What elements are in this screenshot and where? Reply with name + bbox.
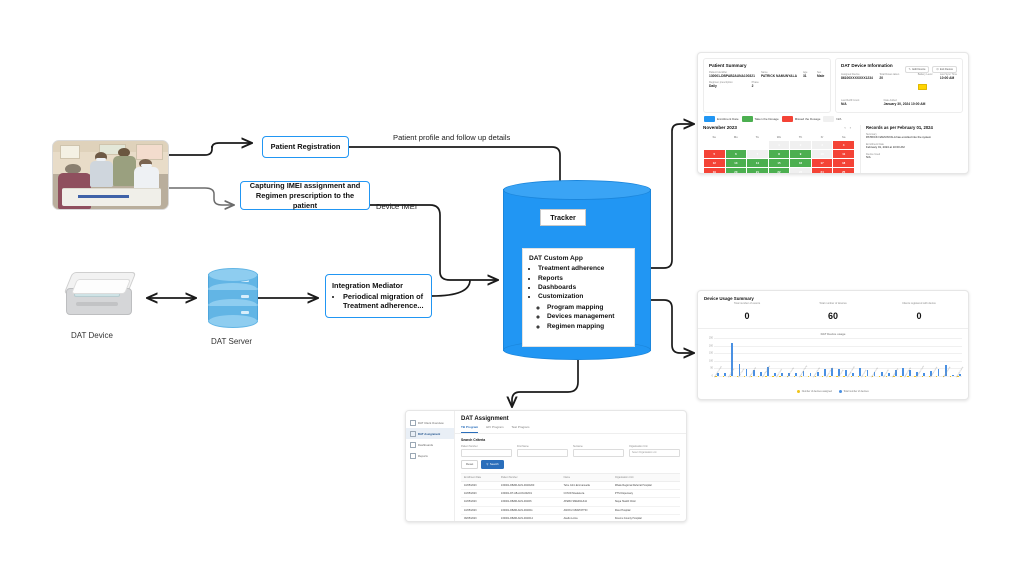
custom-app-item: Treatment adherence — [538, 264, 628, 273]
legend-swatch — [823, 116, 834, 122]
table-cell: Siaya Health Clinic — [612, 498, 680, 506]
table-cell: 130001-DT-AB-AUN-0020/1 — [498, 489, 561, 497]
chart-y-tick: 150 — [709, 352, 713, 355]
assignment-icon — [410, 431, 416, 437]
photo-person-worker-2 — [113, 148, 136, 186]
calendar-day[interactable]: 2 — [790, 141, 812, 150]
tab-tb-program[interactable]: TB Program — [461, 425, 478, 433]
photo-poster-3 — [136, 144, 163, 160]
calendar-week: 567891011 — [704, 150, 855, 159]
tab-test-program[interactable]: Test Program — [512, 425, 530, 433]
column-organisation-unit[interactable]: Organisation Unit — [612, 473, 680, 481]
calendar-week: 12131415161718 — [704, 159, 855, 168]
field-patient-age: Age 31 — [803, 71, 811, 78]
calendar-day[interactable]: 14 — [747, 159, 769, 168]
field-patient-sex: Sex Male — [817, 71, 825, 78]
calendar-header: November 2023 ‹› — [703, 125, 855, 130]
calendar-day[interactable]: 20 — [725, 168, 747, 174]
tab-hiv-program[interactable]: HIV Program — [486, 425, 503, 433]
table-cell: 10/05/2023 — [461, 481, 498, 489]
calendar-body: 1234567891011121314151617181920212223242… — [704, 141, 855, 174]
integration-mediator-box[interactable]: Integration Mediator Periodical migratio… — [325, 274, 432, 318]
chart-legend-item-2: Total number of devices — [839, 390, 869, 393]
field-total-doses: Total Doses taken 20 — [879, 73, 911, 96]
calendar-day[interactable]: 23 — [790, 168, 812, 174]
dat-device-icon — [66, 272, 136, 316]
results-body: 10/05/2023130001-DBAB-AUN-0020/200Tebu J… — [461, 481, 680, 522]
table-cell: COVID Msekeleza — [561, 489, 612, 497]
field-organisation-unit: Organisation Unit Select Organisation un… — [629, 445, 680, 457]
table-cell: 09/05/2023 — [461, 515, 498, 523]
field-date-added: Date Added January 30, 2024 10:00 AM — [884, 99, 957, 106]
results-table: Enrollment Date Patient Number Name Orga… — [461, 473, 680, 523]
photo-body — [90, 161, 113, 187]
assignment-sidebar: DAT Client Overview DAT Assignment Dashb… — [406, 411, 455, 521]
patient-field-row-2: Regimen prescription Daily Phase 2 — [709, 81, 825, 88]
table-row[interactable]: 10/05/2023130001-DBAB-AUN-0020/11ANOKU U… — [461, 506, 680, 514]
photo-desk-banner — [78, 195, 129, 198]
calendar-weekday: We — [768, 133, 790, 141]
battery-icon — [918, 84, 927, 90]
table-cell: 10/05/2023 — [461, 506, 498, 514]
calendar-weekday: Fr — [811, 133, 833, 141]
table-cell: 130001-DBAB-AUN-0020/200 — [498, 481, 561, 489]
field-patient-name: Name PATRICK NAMUNYALA — [761, 71, 797, 78]
calendar-day[interactable]: 15 — [768, 159, 790, 168]
legend-missed: Missed the Dosage — [782, 116, 821, 122]
calendar-legend: Enrollment Date Taken the Dosage Missed … — [698, 116, 968, 125]
server-disc-top — [208, 268, 258, 282]
dat-custom-app-list: Treatment adherence Reports Dashboards C… — [529, 264, 628, 331]
search-fields-row: Patient Number First Name Surname Organi… — [461, 445, 680, 457]
custom-app-item: Dashboards — [538, 283, 628, 292]
sidebar-item-dat-assignment[interactable]: DAT Assignment — [406, 428, 454, 439]
chart-y-tick: 100 — [709, 359, 713, 362]
table-cell: Mbale Regional Referral Hospital — [612, 481, 680, 489]
search-criteria-section: Search Criteria Patient Number First Nam… — [455, 434, 686, 523]
calendar-weekday-row: Su Mo Tu We Th Fr Sa — [704, 133, 855, 141]
device-field-row-2: Last Refill Count N/A Date Added January… — [841, 99, 957, 106]
field-first-name: First Name — [517, 445, 568, 457]
record-enrollment-date: Enrollment Date February 01, 2024 at 10:… — [866, 143, 963, 150]
patient-field-row-1: Patient Identifier 130001-DBPAB2AUNA1003… — [709, 71, 825, 78]
calendar-weekday: Mo — [725, 133, 747, 141]
photo-body — [113, 156, 136, 186]
table-row[interactable]: 09/05/2023130001-DBAB-AUN-0020/14Akello … — [461, 515, 680, 523]
calendar-day[interactable]: 17 — [811, 159, 833, 168]
dat-server-caption: DAT Server — [211, 337, 252, 346]
device-lid-inner — [71, 279, 131, 294]
calendar-day — [747, 141, 769, 150]
device-action-buttons: ✎ Edit Device ⏻ Exit Device — [905, 66, 957, 73]
column-patient-number[interactable]: Patient Number — [498, 473, 561, 481]
calendar-day[interactable]: 8 — [768, 150, 790, 159]
chart-legend: Number of devices assigned Total number … — [698, 390, 968, 393]
record-device-used: Device Used N/A — [866, 153, 963, 160]
calendar-day[interactable]: 19 — [704, 168, 726, 174]
calendar-day — [704, 141, 726, 150]
legend-swatch — [704, 116, 715, 122]
table-row[interactable]: 10/05/2023130001-DBAB-AUN-0020/6ATEBU SM… — [461, 498, 680, 506]
organisation-unit-select[interactable]: Select Organisation unit — [629, 449, 680, 457]
custom-app-item-label: Customization — [538, 293, 583, 300]
table-cell: 130001-DBAB-AUN-0020/14 — [498, 515, 561, 523]
patient-summary-header: Patient Summary Patient Identifier 13000… — [698, 53, 968, 116]
calendar-day[interactable]: 16 — [790, 159, 812, 168]
field-patient-identifier: Patient Identifier 130001-DBPAB2AUNA1003… — [709, 71, 755, 78]
sidebar-item-dat-client-overview[interactable]: DAT Client Overview — [406, 417, 454, 428]
record-summary: Summary PATRICK NAMUNYALA has enrolled i… — [866, 133, 963, 140]
calendar-day[interactable]: 5 — [704, 150, 726, 159]
calendar-weekday: Su — [704, 133, 726, 141]
calendar-day[interactable]: 1 — [768, 141, 790, 150]
surname-input[interactable] — [573, 449, 624, 457]
legend-dot — [839, 390, 842, 393]
patient-number-input[interactable] — [461, 449, 512, 457]
chart-y-tick: 0 — [712, 375, 713, 378]
overview-icon — [410, 420, 416, 426]
calendar-day[interactable]: 11 — [833, 150, 855, 159]
field-battery-level: Battery Level — [918, 73, 934, 96]
calendar-day[interactable]: 12 — [704, 159, 726, 168]
device-usage-panel[interactable]: Device Usage Summary Total number of eve… — [697, 290, 969, 400]
calendar-day[interactable]: 25 — [833, 168, 855, 174]
table-cell: 130001-DBAB-AUN-0020/6 — [498, 498, 561, 506]
calendar-day — [725, 141, 747, 150]
assignment-tabs: TB Program HIV Program Test Program — [455, 425, 686, 434]
table-cell: PTS Dispensary — [612, 489, 680, 497]
calendar-day[interactable]: 9 — [790, 150, 812, 159]
patient-registration-box[interactable]: Patient Registration — [262, 136, 349, 158]
calendar-day[interactable]: 18 — [833, 159, 855, 168]
calendar-weekday: Sa — [833, 133, 855, 141]
chart-y-tick: 250 — [709, 337, 713, 340]
field-last-sync: Last Sync Time 10:00 AM — [940, 73, 957, 96]
patient-summary-card: Patient Summary Patient Identifier 13000… — [703, 58, 831, 113]
search-button[interactable]: ⚲ Search — [481, 460, 503, 469]
calendar-day[interactable]: 13 — [725, 159, 747, 168]
field-regimen-prescription: Regimen prescription Daily — [709, 81, 746, 88]
photo-person-worker-3 — [134, 159, 159, 192]
integration-mediator-title: Integration Mediator — [332, 281, 425, 291]
records-title: Records as per February 01, 2024 — [866, 125, 963, 130]
clinic-photo — [52, 140, 169, 210]
first-name-input[interactable] — [517, 449, 568, 457]
server-disc-3 — [208, 314, 258, 328]
search-buttons: Reset ⚲ Search — [461, 460, 680, 469]
chart-title: DAT Device usage — [698, 328, 968, 336]
assignment-main: DAT Assignment TB Program HIV Program Te… — [455, 411, 686, 521]
patient-summary-panel[interactable]: Patient Summary Patient Identifier 13000… — [697, 52, 969, 174]
photo-poster-1 — [60, 145, 80, 159]
calendar-day[interactable]: 21 — [747, 168, 769, 174]
search-icon: ⚲ — [486, 462, 488, 466]
field-patient-number: Patient Number — [461, 445, 512, 457]
field-assigned-device: Assigned Device 86100XXXXXXX1234 — [841, 73, 873, 96]
calendar-week: 19202122232425 — [704, 168, 855, 174]
results-header: Enrollment Date Patient Number Name Orga… — [461, 473, 680, 481]
calendar-grid: Su Mo Tu We Th Fr Sa 1234567891011121314… — [703, 132, 855, 174]
reports-icon — [410, 453, 416, 459]
table-cell: 130001-DBAB-AUN-0020/11 — [498, 506, 561, 514]
exit-icon: ⏻ — [936, 68, 938, 71]
tracker-label: Tracker — [550, 213, 576, 222]
calendar-day[interactable]: 24 — [811, 168, 833, 174]
device-usage-chart: 050100150200250 Bungoma CountyBusia Coun… — [704, 338, 962, 386]
capturing-imei-label: Capturing IMEI assignment and Regimen pr… — [247, 181, 363, 211]
legend-na: N/A — [823, 116, 841, 122]
photo-person-worker-1 — [90, 152, 113, 187]
device-usage-title: Device Usage Summary — [698, 291, 968, 301]
table-cell: ATEBU SMERGUIJA — [561, 498, 612, 506]
dat-custom-app-title: DAT Custom App — [529, 255, 583, 262]
table-cell: Tebu John Emmanuella — [561, 481, 612, 489]
sidebar-item-reports[interactable]: Reports — [406, 450, 454, 461]
table-cell: Akello Lorna — [561, 515, 612, 523]
cylinder-top — [503, 180, 651, 200]
dashboard-icon — [410, 442, 416, 448]
calendar-month-label: November 2023 — [703, 125, 737, 130]
kpi-row: Total number of events 0 Total number of… — [698, 301, 968, 328]
legend-enrollment: Enrollment Date — [704, 116, 739, 122]
integration-mediator-bullet: Periodical migration of Treatment adhere… — [343, 292, 425, 312]
device-slot — [76, 302, 118, 306]
table-cell: 10/05/2023 — [461, 489, 498, 497]
custom-app-sublist: Program mapping Devices management Regim… — [538, 303, 628, 331]
custom-app-subitem: Devices management — [547, 312, 628, 321]
field-surname: Surname — [573, 445, 624, 457]
table-row[interactable]: 10/05/2023130001-DBAB-AUN-0020/200Tebu J… — [461, 481, 680, 489]
calendar-day[interactable]: 22 — [768, 168, 790, 174]
edit-device-button[interactable]: ✎ Edit Device — [905, 66, 930, 73]
table-row[interactable]: 10/05/2023130001-DT-AB-AUN-0020/1COVID M… — [461, 489, 680, 497]
chart-y-axis: 050100150200250 — [704, 338, 714, 376]
legend-dot — [797, 390, 800, 393]
chart-y-tick: 50 — [710, 367, 713, 370]
kpi-clients-registered: Clients registered with device 0 — [876, 302, 962, 324]
label-patient-profile: Patient profile and follow up details — [393, 133, 510, 142]
dat-device-info-card: DAT Device Information ✎ Edit Device ⏻ E… — [835, 58, 963, 113]
column-name[interactable]: Name — [561, 473, 612, 481]
patient-summary-title: Patient Summary — [709, 63, 825, 68]
chart-x-labels: Bungoma CountyBusia CountyEmbu CountyGar… — [714, 376, 962, 386]
calendar-day[interactable]: 3 — [811, 141, 833, 150]
dat-custom-app-box[interactable]: DAT Custom App Treatment adherence Repor… — [522, 248, 635, 347]
field-last-refill: Last Refill Count N/A — [841, 99, 878, 106]
tracker-box[interactable]: Tracker — [540, 209, 586, 226]
table-cell: ANOKU UBAHOTHO — [561, 506, 612, 514]
kpi-total-devices: Total number of devices 60 — [790, 302, 876, 324]
chart-legend-item-1: Number of devices assigned — [797, 390, 832, 393]
column-enrollment-date[interactable]: Enrollment Date — [461, 473, 498, 481]
dat-device-caption: DAT Device — [71, 331, 113, 340]
assignment-title: DAT Assignment — [455, 411, 686, 425]
pencil-icon: ✎ — [909, 68, 911, 71]
table-cell: Kisumu County Hospital — [612, 515, 680, 523]
calendar-weekday: Th — [790, 133, 812, 141]
results-header-row: Enrollment Date Patient Number Name Orga… — [461, 473, 680, 481]
device-field-row-1: Assigned Device 86100XXXXXXX1234 Total D… — [841, 73, 957, 96]
custom-app-subitem: Program mapping — [547, 303, 628, 312]
custom-app-item: Reports — [538, 274, 628, 283]
field-phase: Phase 2 — [752, 81, 825, 88]
calendar-weekday: Tu — [747, 133, 769, 141]
calendar[interactable]: November 2023 ‹› Su Mo Tu We Th Fr Sa 12… — [703, 125, 855, 174]
records-section: Records as per February 01, 2024 Summary… — [860, 125, 963, 174]
calendar-day[interactable]: 7 — [747, 150, 769, 159]
dat-assignment-panel[interactable]: DAT Client Overview DAT Assignment Dashb… — [405, 410, 687, 522]
chart-y-tick: 200 — [709, 344, 713, 347]
calendar-nav[interactable]: ‹› — [844, 125, 855, 130]
calendar-day[interactable]: 6 — [725, 150, 747, 159]
custom-app-subitem: Regimen mapping — [547, 322, 628, 331]
calendar-day[interactable]: 10 — [811, 150, 833, 159]
custom-app-item: Customization Program mapping Devices ma… — [538, 292, 628, 330]
capturing-imei-box[interactable]: Capturing IMEI assignment and Regimen pr… — [240, 181, 370, 210]
legend-swatch — [742, 116, 753, 122]
sidebar-item-dashboards[interactable]: Dashboards — [406, 439, 454, 450]
legend-taken: Taken the Dosage — [742, 116, 779, 122]
reset-button[interactable]: Reset — [461, 460, 478, 469]
calendar-section: November 2023 ‹› Su Mo Tu We Th Fr Sa 12… — [698, 125, 968, 174]
table-cell: 10/05/2023 — [461, 498, 498, 506]
calendar-week: 1234 — [704, 141, 855, 150]
label-device-imei: Device IMEI — [376, 202, 417, 211]
exit-device-button[interactable]: ⏻ Exit Device — [932, 66, 957, 73]
patient-registration-label: Patient Registration — [271, 142, 341, 152]
legend-swatch — [782, 116, 793, 122]
dat-server-icon — [208, 268, 256, 330]
calendar-day[interactable]: 4 — [833, 141, 855, 150]
table-cell: Rivet Hospital — [612, 506, 680, 514]
search-criteria-title: Search Criteria — [461, 438, 680, 442]
kpi-total-events: Total number of events 0 — [704, 302, 790, 324]
